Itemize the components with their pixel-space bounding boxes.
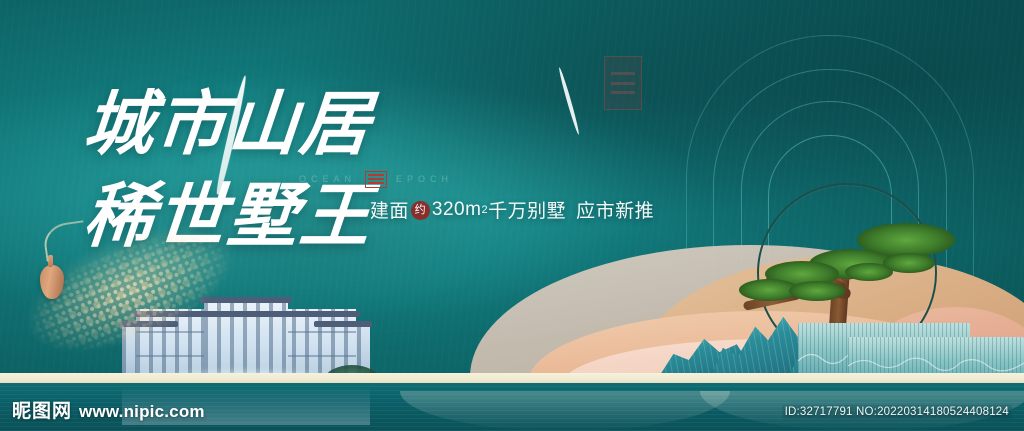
mini-seal-icon xyxy=(365,171,387,188)
watermark-site-name: 昵图网 xyxy=(12,396,72,423)
pine-foliage xyxy=(883,253,935,273)
watermark-logo: 昵图网 www.nipic.com xyxy=(12,396,205,423)
watermark-id: ID:32717791 NO:20220314180524408124 xyxy=(782,405,1012,419)
brand-line-left: OCEAN xyxy=(299,174,356,184)
panel-wave-icon xyxy=(848,351,1024,373)
headline: 城市山居稀世墅王 xyxy=(84,78,644,170)
brand-line-right: EPOCH xyxy=(396,174,453,184)
brand-line: OCEAN EPOCH xyxy=(268,168,484,190)
watermark-site-url: www.nipic.com xyxy=(79,402,205,422)
pine-foliage xyxy=(789,281,845,301)
banner-canvas: 城市山居稀世墅王 OCEAN EPOCH 建面 约 320m 2 千万别墅 应市… xyxy=(0,0,1024,431)
gold-vase-stem xyxy=(42,220,89,261)
landscape-scene xyxy=(0,191,1024,431)
villa-roof-right xyxy=(314,321,372,327)
